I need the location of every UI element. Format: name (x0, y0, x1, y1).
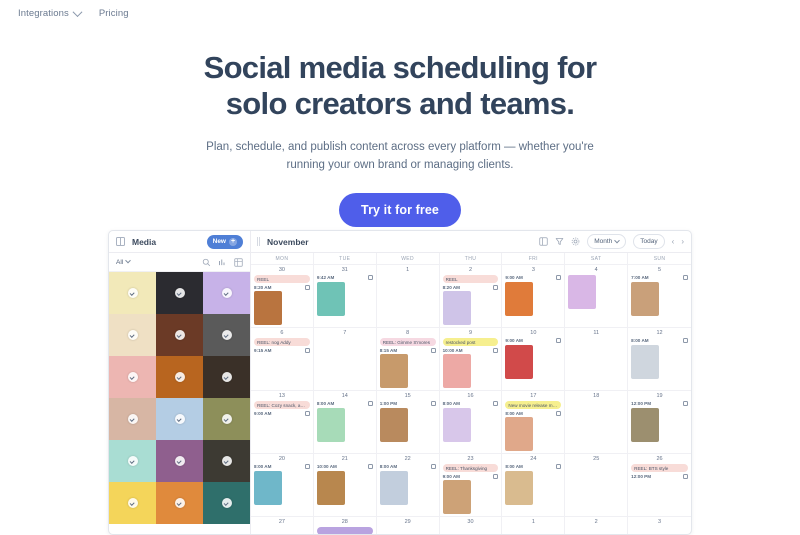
check-badge-icon (175, 372, 185, 382)
calendar-weekday-header: MONTUEWEDTHUFRISATSUN (251, 253, 691, 265)
thumb-pink-text-card[interactable] (109, 356, 156, 398)
calendar-day-cell[interactable]: 29 (377, 517, 440, 535)
event-time-row: 8:00 AM (254, 464, 310, 469)
calendar-day-cell[interactable]: 319:42 AM (314, 265, 377, 328)
instagram-icon (556, 411, 561, 416)
thumb-teal-pack[interactable] (203, 482, 250, 524)
calendar-event[interactable]: REEL: Cozy snack, add ...9:00 AM (254, 401, 310, 416)
event-time: 9:15 AM (254, 348, 271, 353)
hero-section: Social media scheduling for solo creator… (0, 26, 800, 246)
event-time: 10:00 AM (317, 464, 337, 469)
calendar-event[interactable]: 8:00 AM (317, 401, 373, 442)
calendar-event[interactable]: REEL: nog Addy9:15 AM (254, 338, 310, 353)
check-badge-icon (222, 414, 232, 424)
thumb-yellow-banner[interactable] (109, 482, 156, 524)
page-title: Social media scheduling for solo creator… (190, 50, 610, 122)
event-time-row: 9:00 AM (254, 411, 310, 416)
event-thumbnail[interactable] (505, 417, 533, 451)
check-badge-icon (175, 498, 185, 508)
headline-line-2: solo creators and teams. (226, 86, 574, 121)
event-thumbnail[interactable] (317, 282, 345, 316)
calendar-day-cell[interactable]: 3 (628, 517, 691, 535)
check-badge-icon (222, 456, 232, 466)
search-icon[interactable] (202, 258, 211, 267)
calendar: MONTUEWEDTHUFRISATSUN 30REEL8:20 AM319:4… (251, 253, 691, 534)
calendar-event[interactable]: 8:00 AM (631, 338, 688, 379)
thumb-coffee-beans[interactable] (109, 314, 156, 356)
thumb-chocolate-box[interactable] (203, 272, 250, 314)
thumb-orange-tray[interactable] (156, 482, 203, 524)
check-badge-icon (175, 330, 185, 340)
media-filter-bar: All (109, 253, 250, 272)
calendar-event[interactable]: 8:00 AM (380, 464, 436, 505)
top-nav: Integrations Pricing (0, 0, 800, 26)
headline-line-1: Social media scheduling for (204, 50, 597, 85)
instagram-icon (368, 401, 373, 406)
calendar-day-cell[interactable]: 228:00 AM (377, 454, 440, 517)
event-time: 8:00 AM (631, 338, 648, 343)
day-number: 12 (631, 330, 688, 336)
thumb-mint-spoons[interactable] (109, 440, 156, 482)
day-number: 19 (631, 393, 688, 399)
check-badge-icon (175, 414, 185, 424)
event-time: 8:20 AM (254, 285, 271, 290)
panel-toggle-icon[interactable] (116, 237, 125, 246)
day-number: 11 (568, 330, 624, 336)
weekday-header-wed: WED (377, 253, 440, 265)
event-time: 8:20 AM (443, 285, 460, 290)
next-month-button[interactable]: › (681, 238, 684, 246)
calendar-day-cell[interactable]: 7 (314, 328, 377, 391)
weekday-label: MON (251, 256, 313, 262)
day-number: 23 (443, 456, 499, 462)
event-time-row: 9:00 AM (505, 275, 561, 280)
instagram-icon (305, 285, 310, 290)
event-thumbnail[interactable] (317, 408, 345, 442)
calendar-day-cell[interactable]: 17New movie release me...8:00 AM (502, 391, 565, 454)
event-time-row: 9:00 AM (443, 474, 499, 479)
calendar-day-cell[interactable]: 148:00 AM (314, 391, 377, 454)
day-number: 28 (317, 519, 373, 525)
day-number: 22 (380, 456, 436, 462)
weekday-header-thu: THU (440, 253, 503, 265)
calendar-event[interactable]: 8:00 AM (254, 464, 310, 505)
thumb-cocoa-swirl[interactable] (156, 314, 203, 356)
event-time: 10:00 AM (443, 348, 463, 353)
calendar-day-cell[interactable]: 208:00 AM (251, 454, 314, 517)
thumb-gold-sweets[interactable] (203, 440, 250, 482)
day-number: 26 (631, 456, 688, 462)
calendar-event[interactable]: REEL8:20 AM (443, 275, 499, 325)
media-filter-dropdown[interactable]: All (116, 259, 130, 266)
check-badge-icon (128, 288, 138, 298)
weekday-label: TUE (314, 256, 376, 262)
instagram-icon (368, 464, 373, 469)
calendar-day-cell[interactable]: 151:00 PM (377, 391, 440, 454)
calendar-toolbar-right: Month Today ‹ › (539, 234, 684, 249)
event-label: REEL: BTS style (631, 464, 688, 472)
weekday-label: THU (440, 256, 502, 262)
calendar-event[interactable]: REEL8:20 AM (254, 275, 310, 325)
thumb-olive-snack[interactable] (203, 398, 250, 440)
weekday-header-mon: MON (251, 253, 314, 265)
event-thumbnail[interactable] (317, 471, 345, 505)
event-time: 9:00 AM (443, 474, 460, 479)
chevron-down-icon (125, 258, 131, 264)
calendar-day-cell[interactable]: 8REEL: Gimme S'mores8:15 AM (377, 328, 440, 391)
event-time-row: 8:00 AM (505, 464, 561, 469)
event-thumbnail[interactable] (443, 408, 471, 442)
calendar-event[interactable]: 10:00 AM (317, 464, 373, 505)
calendar-event[interactable]: 8:00 AM (505, 464, 561, 505)
today-button[interactable]: Today (633, 234, 664, 249)
calendar-event[interactable]: New movie release me...8:00 AM (505, 401, 561, 451)
instagram-icon (493, 401, 498, 406)
instagram-icon (683, 401, 688, 406)
check-badge-icon (222, 372, 232, 382)
instagram-icon (556, 338, 561, 343)
event-time: 7:00 AM (631, 275, 648, 280)
day-number: 7 (317, 330, 373, 336)
calendar-day-cell[interactable]: 1 (377, 265, 440, 328)
media-panel-title: Media (132, 237, 156, 247)
plus-icon: + (229, 238, 237, 246)
instagram-icon (556, 464, 561, 469)
day-number: 20 (254, 456, 310, 462)
day-number: 1 (380, 267, 436, 273)
calendar-day-cell[interactable]: 26REEL: BTS style12:00 PM (628, 454, 691, 517)
event-thumbnail[interactable] (443, 291, 471, 325)
media-panel: All (109, 253, 251, 534)
day-number: 15 (380, 393, 436, 399)
day-number: 27 (254, 519, 310, 525)
event-time: 8:15 AM (380, 348, 397, 353)
event-time: 8:00 AM (254, 464, 271, 469)
event-label (317, 527, 373, 535)
event-time-row: 9:00 AM (505, 338, 561, 343)
day-number: 25 (568, 456, 624, 462)
event-thumbnail[interactable] (254, 291, 282, 325)
app-toolbar: Media New + November Month Today ‹ (109, 231, 691, 253)
calendar-event[interactable]: restocked post10:00 AM (443, 338, 499, 388)
event-label: REEL: nog Addy (254, 338, 310, 346)
event-time: 9:00 AM (505, 338, 522, 343)
new-button-label: New (213, 238, 226, 245)
calendar-day-cell[interactable]: 2 (565, 517, 628, 535)
event-thumbnail[interactable] (631, 345, 659, 379)
day-number: 14 (317, 393, 373, 399)
calendar-day-cell[interactable]: 27 (251, 517, 314, 535)
calendar-day-cell[interactable]: 25 (565, 454, 628, 517)
hero-subtitle: Plan, schedule, and publish content acro… (200, 139, 600, 175)
event-label: REEL: Thanksgiving (443, 464, 499, 472)
weekday-header-sat: SAT (565, 253, 628, 265)
thumb-portrait-purple[interactable] (156, 440, 203, 482)
day-number: 2 (568, 519, 624, 525)
thumb-sunshine-quote[interactable] (109, 272, 156, 314)
calendar-day-cell[interactable]: 23REEL: Thanksgiving9:00 AM (440, 454, 503, 517)
event-thumbnail[interactable] (443, 480, 471, 514)
event-label: REEL: Cozy snack, add ... (254, 401, 310, 409)
instagram-icon (556, 275, 561, 280)
event-time-row: 8:00 AM (317, 401, 373, 406)
check-badge-icon (175, 288, 185, 298)
event-thumbnail[interactable] (631, 282, 659, 316)
event-time-row: 12:00 PM (631, 474, 688, 479)
today-label: Today (640, 238, 657, 245)
chevron-down-icon (72, 7, 82, 17)
event-time-row: 8:00 AM (505, 411, 561, 416)
check-badge-icon (175, 456, 185, 466)
event-time-row: 9:15 AM (254, 348, 310, 353)
nav-item-pricing-label: Pricing (99, 8, 129, 19)
instagram-icon (305, 411, 310, 416)
new-button[interactable]: New + (207, 235, 243, 249)
calendar-day-cell[interactable]: 13REEL: Cozy snack, add ...9:00 AM (251, 391, 314, 454)
event-label: REEL (254, 275, 310, 283)
previous-month-button[interactable]: ‹ (672, 238, 675, 246)
calendar-event[interactable]: 9:42 AM (317, 275, 373, 316)
event-label: New movie release me... (505, 401, 561, 409)
calendar-day-cell[interactable]: 1 (502, 517, 565, 535)
calendar-event[interactable]: 9:00 AM (505, 275, 561, 316)
weekday-label: SAT (565, 256, 627, 262)
calendar-day-cell[interactable]: 9restocked post10:00 AM (440, 328, 503, 391)
calendar-event[interactable]: 1:00 PM (380, 401, 436, 442)
calendar-day-cell[interactable]: 4 (565, 265, 628, 328)
calendar-grid: 30REEL8:20 AM319:42 AM12REEL8:20 AM39:00… (251, 265, 691, 535)
media-filter-label: All (116, 259, 123, 266)
calendar-day-cell[interactable]: 6REEL: nog Addy9:15 AM (251, 328, 314, 391)
event-thumbnail[interactable] (380, 354, 408, 388)
calendar-day-cell[interactable]: 2110:00 AM (314, 454, 377, 517)
try-it-for-free-button[interactable]: Try it for free (339, 193, 461, 227)
event-time-row: 8:20 AM (443, 285, 499, 290)
day-number: 29 (380, 519, 436, 525)
calendar-day-cell[interactable]: 30REEL8:20 AM (251, 265, 314, 328)
thumb-blue-circles[interactable] (156, 398, 203, 440)
event-time: 1:00 PM (380, 401, 397, 406)
event-thumbnail[interactable] (505, 282, 533, 316)
check-badge-icon (128, 498, 138, 508)
view-mode-label: Month (594, 238, 612, 245)
sort-icon[interactable] (218, 258, 227, 267)
day-number: 4 (568, 267, 624, 273)
event-time-row: 8:00 AM (631, 338, 688, 343)
check-badge-icon (128, 414, 138, 424)
weekday-label: SUN (628, 256, 691, 262)
day-number: 31 (317, 267, 373, 273)
grid-view-icon[interactable] (539, 237, 548, 246)
media-grid (109, 272, 250, 534)
calendar-event[interactable]: 12:00 PM (631, 401, 688, 442)
day-number: 16 (443, 393, 499, 399)
weekday-label: FRI (502, 256, 564, 262)
calendar-day-cell[interactable]: 39:00 AM (502, 265, 565, 328)
day-number: 6 (254, 330, 310, 336)
event-time: 8:00 AM (505, 411, 522, 416)
day-number: 17 (505, 393, 561, 399)
day-number: 2 (443, 267, 499, 273)
event-time-row: 12:00 PM (631, 401, 688, 406)
nav-item-integrations[interactable]: Integrations (18, 8, 81, 19)
instagram-icon (683, 275, 688, 280)
weekday-header-sun: SUN (628, 253, 691, 265)
event-time: 9:42 AM (317, 275, 334, 280)
day-number: 30 (254, 267, 310, 273)
drag-handle-icon[interactable] (257, 237, 260, 246)
event-time-row: 8:20 AM (254, 285, 310, 290)
event-time: 8:00 AM (505, 464, 522, 469)
event-time-row: 10:00 AM (443, 348, 499, 353)
event-time-row: 1:00 PM (380, 401, 436, 406)
calendar-day-cell[interactable]: 57:00 AM (628, 265, 691, 328)
event-time: 12:00 PM (631, 474, 651, 479)
event-thumbnail[interactable] (443, 354, 471, 388)
event-label: REEL (443, 275, 499, 283)
check-badge-icon (222, 498, 232, 508)
instagram-icon (305, 464, 310, 469)
day-number: 8 (380, 330, 436, 336)
day-number: 30 (443, 519, 499, 525)
thumb-hand-holding[interactable] (109, 398, 156, 440)
instagram-icon (368, 275, 373, 280)
calendar-day-cell[interactable]: 28 (314, 517, 377, 535)
event-time: 8:00 AM (380, 464, 397, 469)
instagram-icon (431, 348, 436, 353)
calendar-event[interactable]: REEL: BTS style12:00 PM (631, 464, 688, 479)
weekday-header-tue: TUE (314, 253, 377, 265)
event-time: 8:00 AM (443, 401, 460, 406)
event-label: REEL: Gimme S'mores (380, 338, 436, 346)
check-badge-icon (128, 330, 138, 340)
calendar-day-cell[interactable]: 168:00 AM (440, 391, 503, 454)
event-time-row: 10:00 AM (317, 464, 373, 469)
instagram-icon (305, 348, 310, 353)
chevron-down-icon (614, 237, 620, 243)
day-number: 1 (505, 519, 561, 525)
instagram-icon (493, 474, 498, 479)
calendar-day-cell[interactable]: 128:00 AM (628, 328, 691, 391)
calendar-event[interactable]: 8:00 AM (443, 401, 499, 442)
instagram-icon (493, 348, 498, 353)
day-number: 18 (568, 393, 624, 399)
check-badge-icon (222, 288, 232, 298)
thumb-tablet-video[interactable] (156, 272, 203, 314)
event-thumbnail[interactable] (505, 345, 533, 379)
calendar-day-cell[interactable]: 30 (440, 517, 503, 535)
calendar-day-cell[interactable]: 18 (565, 391, 628, 454)
nav-item-pricing[interactable]: Pricing (99, 8, 129, 19)
calendar-event[interactable]: 7:00 AM (631, 275, 688, 316)
day-number: 10 (505, 330, 561, 336)
event-thumbnail[interactable] (568, 275, 596, 309)
instagram-icon (683, 338, 688, 343)
event-time-row: 9:42 AM (317, 275, 373, 280)
event-time-row: 8:00 AM (443, 401, 499, 406)
calendar-event[interactable] (568, 275, 624, 309)
media-bar-icons (202, 258, 243, 267)
grid-icon[interactable] (234, 258, 243, 267)
day-number: 9 (443, 330, 499, 336)
event-thumbnail[interactable] (631, 408, 659, 442)
thumb-dark-sweets[interactable] (203, 356, 250, 398)
event-thumbnail[interactable] (380, 408, 408, 442)
settings-icon[interactable] (571, 237, 580, 246)
view-mode-dropdown[interactable]: Month (587, 234, 626, 249)
event-thumbnail[interactable] (380, 471, 408, 505)
weekday-header-fri: FRI (502, 253, 565, 265)
app-screenshot: Media New + November Month Today ‹ (108, 230, 692, 535)
calendar-month-label: November (267, 237, 309, 247)
event-time: 9:00 AM (254, 411, 271, 416)
filter-icon[interactable] (555, 237, 564, 246)
check-badge-icon (128, 456, 138, 466)
calendar-day-cell[interactable]: 109:00 AM (502, 328, 565, 391)
check-badge-icon (128, 372, 138, 382)
event-thumbnail[interactable] (505, 471, 533, 505)
calendar-day-cell[interactable]: 11 (565, 328, 628, 391)
check-badge-icon (222, 330, 232, 340)
event-time: 9:00 AM (505, 275, 522, 280)
instagram-icon (431, 464, 436, 469)
day-number: 3 (631, 519, 688, 525)
event-time: 8:00 AM (317, 401, 334, 406)
calendar-day-cell[interactable]: 2REEL8:20 AM (440, 265, 503, 328)
day-number: 5 (631, 267, 688, 273)
calendar-event[interactable]: REEL: Gimme S'mores8:15 AM (380, 338, 436, 388)
weekday-label: WED (377, 256, 439, 262)
calendar-day-cell[interactable]: 248:00 AM (502, 454, 565, 517)
media-panel-header: Media New + (109, 231, 251, 252)
event-time: 12:00 PM (631, 401, 651, 406)
instagram-icon (683, 474, 688, 479)
day-number: 13 (254, 393, 310, 399)
thumb-leopard-print[interactable] (203, 314, 250, 356)
calendar-event[interactable]: 9:00 AM (505, 338, 561, 379)
event-label: restocked post (443, 338, 499, 346)
event-time-row: 8:00 AM (380, 464, 436, 469)
app-body: All MONTUEWEDTHUFRISATSUN 30REEL8:20 AM3… (109, 253, 691, 534)
calendar-toolbar: November Month Today ‹ › (251, 231, 691, 252)
day-number: 21 (317, 456, 373, 462)
calendar-event[interactable] (317, 527, 373, 535)
day-number: 24 (505, 456, 561, 462)
day-number: 3 (505, 267, 561, 273)
event-thumbnail[interactable] (254, 471, 282, 505)
event-time-row: 7:00 AM (631, 275, 688, 280)
calendar-event[interactable]: REEL: Thanksgiving9:00 AM (443, 464, 499, 514)
instagram-icon (493, 285, 498, 290)
event-time-row: 8:15 AM (380, 348, 436, 353)
nav-item-integrations-label: Integrations (18, 8, 69, 19)
thumb-product-hand[interactable] (156, 356, 203, 398)
instagram-icon (431, 401, 436, 406)
calendar-day-cell[interactable]: 1912:00 PM (628, 391, 691, 454)
